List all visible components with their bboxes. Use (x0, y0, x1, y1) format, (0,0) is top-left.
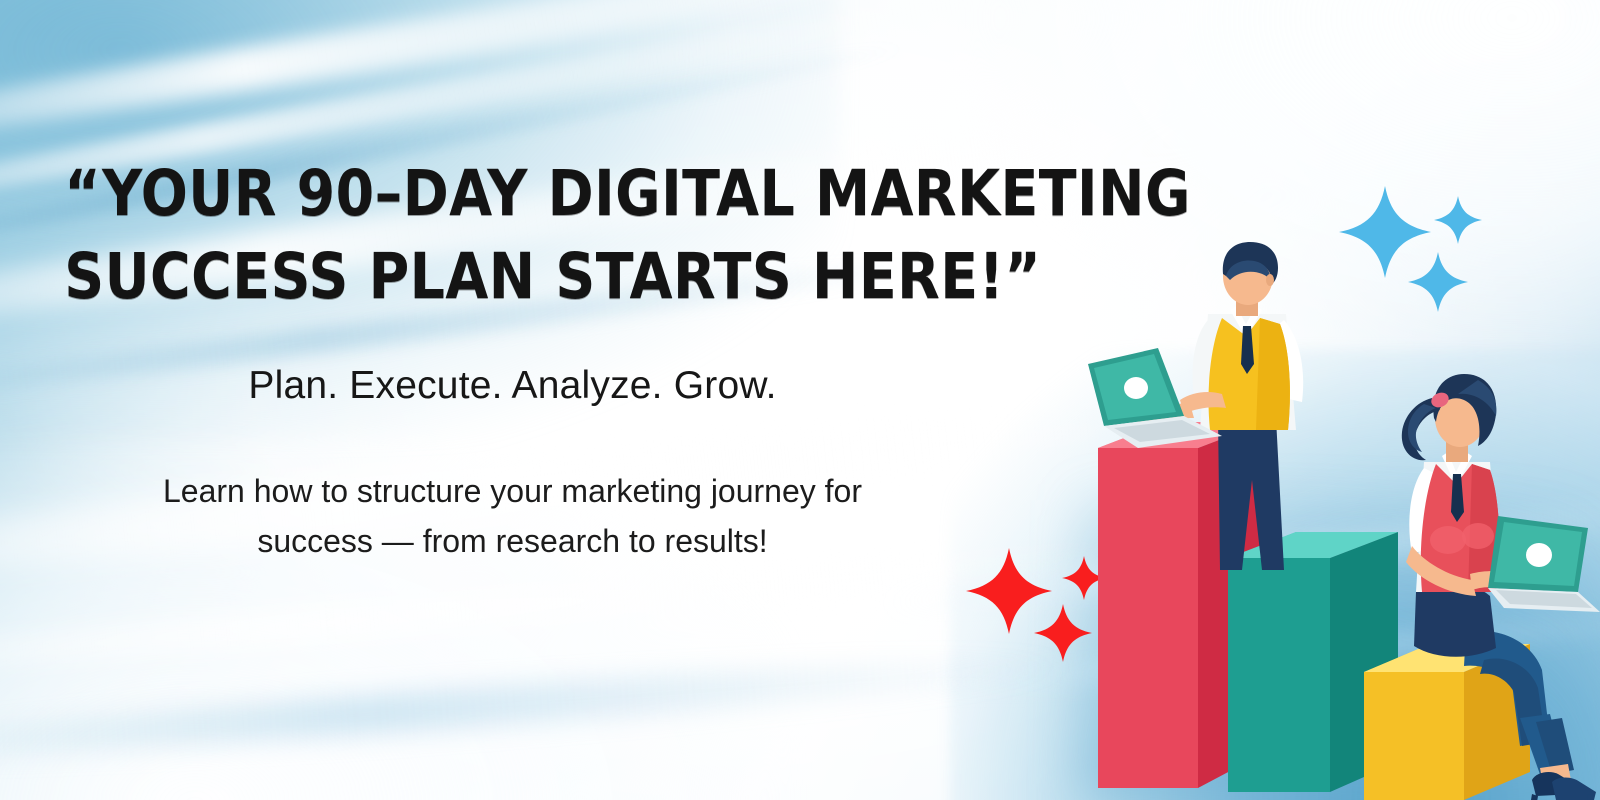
subcopy: Learn how to structure your marketing jo… (0, 466, 1025, 566)
subcopy-line-2: success — from research to results! (0, 516, 1025, 566)
headline-line-1: “YOUR 90–DAY DIGITAL MARKETING (64, 152, 1006, 235)
headline: “YOUR 90–DAY DIGITAL MARKETING SUCCESS P… (64, 152, 1006, 318)
subcopy-line-1: Learn how to structure your marketing jo… (0, 466, 1025, 516)
illustration-people-bar-chart (1080, 240, 1600, 800)
headline-line-2: SUCCESS PLAN STARTS HERE!” (64, 235, 1006, 318)
sparkle-blue-small (1434, 196, 1482, 244)
marketing-banner: “YOUR 90–DAY DIGITAL MARKETING SUCCESS P… (0, 0, 1600, 800)
laptop-teal-woman (1488, 516, 1600, 612)
streak (0, 645, 1080, 776)
tagline: Plan. Execute. Analyze. Grow. (0, 364, 1025, 408)
